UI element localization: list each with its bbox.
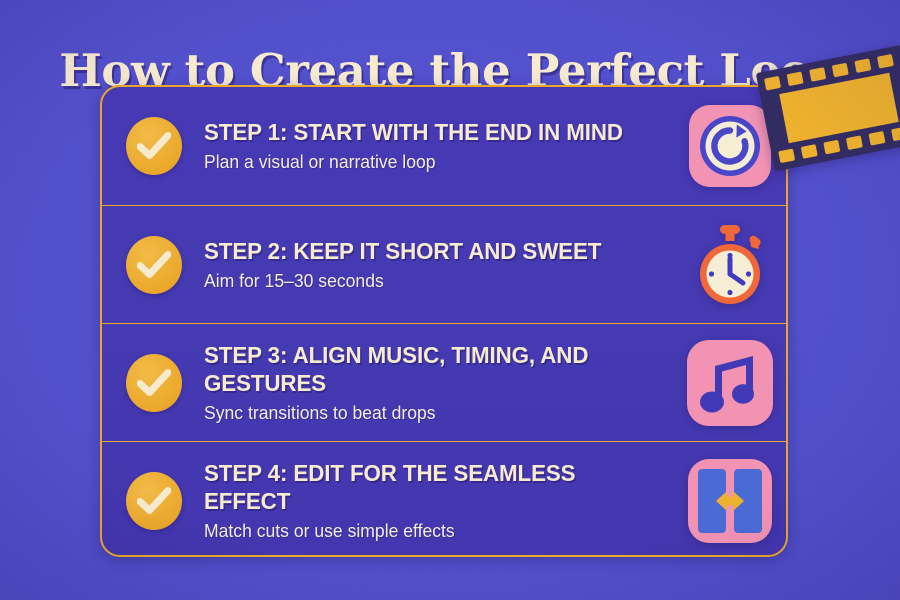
stopwatch-icon xyxy=(687,221,773,309)
step-row[interactable]: STEP 4: EDIT FOR THE SEAMLESS EFFECT Mat… xyxy=(102,441,786,557)
step-text: STEP 2: KEEP IT SHORT AND SWEET Aim for … xyxy=(204,238,674,291)
step-heading: STEP 1: START WITH THE END IN MIND xyxy=(204,119,641,147)
step-row[interactable]: STEP 3: ALIGN MUSIC, TIMING, AND GESTURE… xyxy=(102,323,786,441)
step-subtitle: Sync transitions to beat drops xyxy=(204,403,641,423)
step-subtitle: Aim for 15–30 seconds xyxy=(204,271,641,291)
check-icon xyxy=(137,132,171,160)
step-row[interactable]: STEP 1: START WITH THE END IN MIND Plan … xyxy=(102,87,786,205)
step-text: STEP 4: EDIT FOR THE SEAMLESS EFFECT Mat… xyxy=(204,460,674,541)
step-icon-slot xyxy=(674,457,786,545)
check-icon xyxy=(137,251,171,279)
check-badge xyxy=(126,236,182,294)
step-heading: STEP 2: KEEP IT SHORT AND SWEET xyxy=(204,238,641,266)
step-row[interactable]: STEP 2: KEEP IT SHORT AND SWEET Aim for … xyxy=(102,205,786,323)
step-subtitle: Plan a visual or narrative loop xyxy=(204,152,641,172)
step-subtitle: Match cuts or use simple effects xyxy=(204,521,641,541)
step-text: STEP 3: ALIGN MUSIC, TIMING, AND GESTURE… xyxy=(204,342,674,423)
step-text: STEP 1: START WITH THE END IN MIND Plan … xyxy=(204,119,674,172)
transition-arrows-icon xyxy=(686,457,774,545)
infographic-poster: How to Create the Perfect Loop STEP 1: S… xyxy=(0,0,900,600)
check-icon xyxy=(137,369,171,397)
check-icon xyxy=(137,487,171,515)
check-badge xyxy=(126,354,182,412)
step-icon-slot xyxy=(674,338,786,428)
loop-refresh-icon xyxy=(687,103,773,189)
step-heading: STEP 4: EDIT FOR THE SEAMLESS EFFECT xyxy=(204,460,641,515)
check-badge xyxy=(126,472,182,530)
step-heading: STEP 3: ALIGN MUSIC, TIMING, AND GESTURE… xyxy=(204,342,641,397)
step-icon-slot xyxy=(674,221,786,309)
check-badge xyxy=(126,117,182,175)
steps-card: STEP 1: START WITH THE END IN MIND Plan … xyxy=(100,85,788,557)
music-note-icon xyxy=(685,338,775,428)
